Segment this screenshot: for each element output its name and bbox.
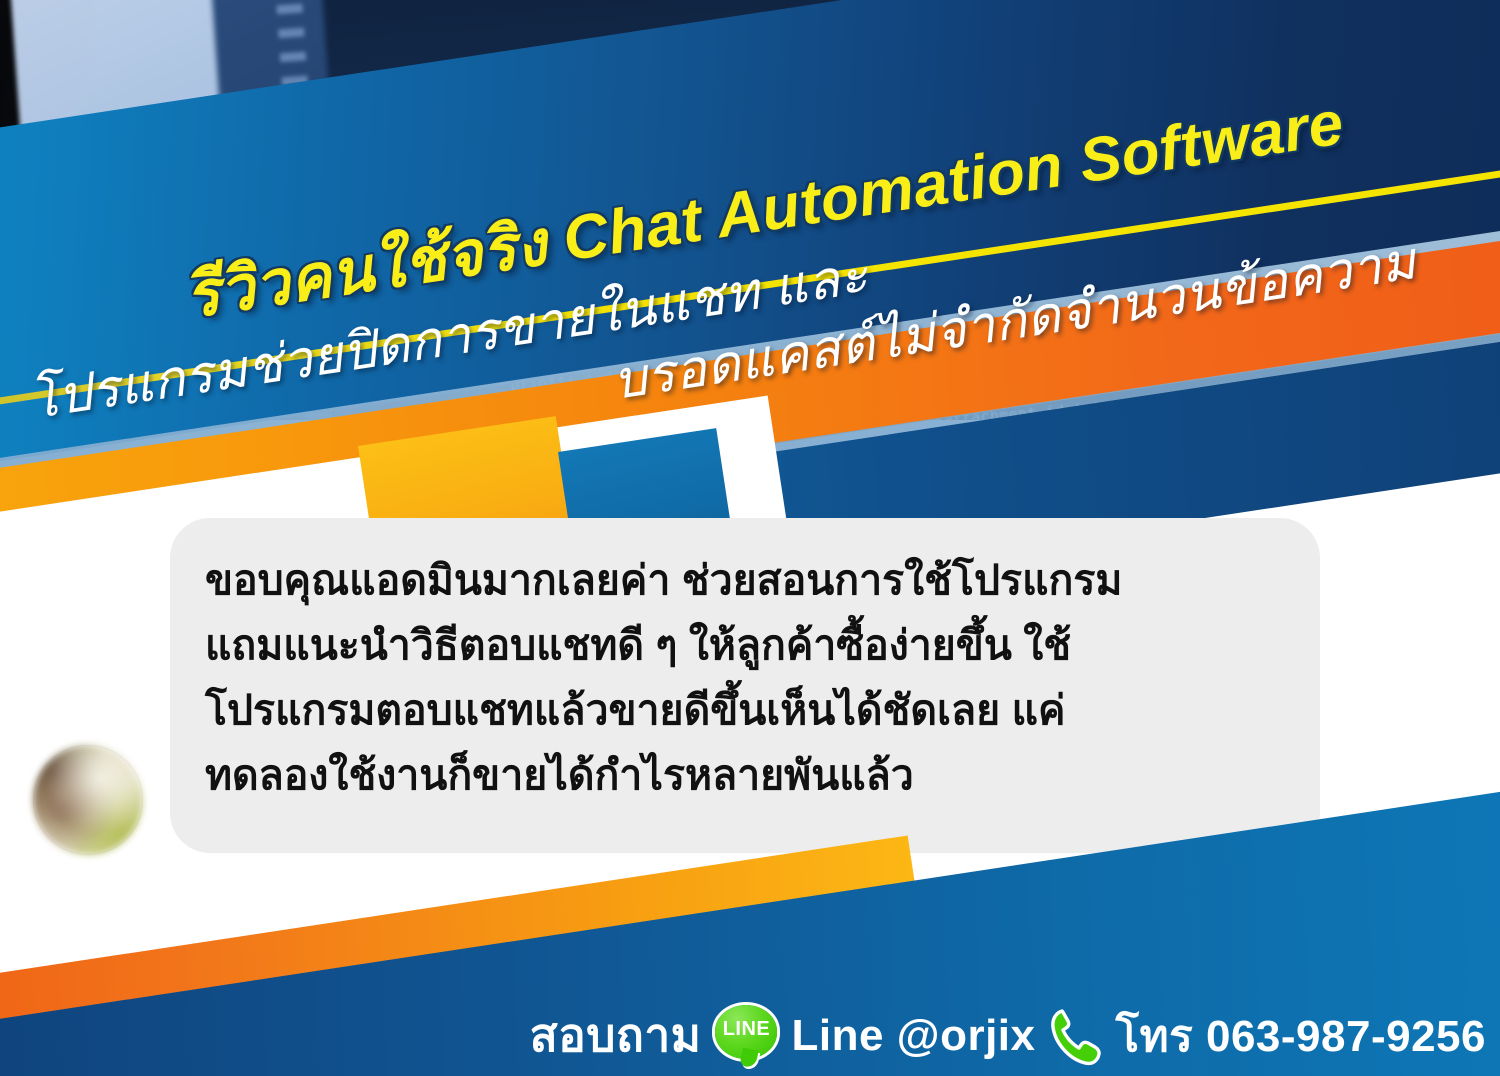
review-line: โปรแกรมตอบแชทแล้วขายดีขึ้นเห็นได้ชัดเลย … [205,678,1305,743]
review-line: แถมแนะนำวิธีตอบแชทดี ๆ ให้ลูกค้าซื้อง่าย… [205,613,1305,678]
phone-icon[interactable] [1049,1005,1101,1067]
avatar-ring [33,745,143,855]
review-line: ทดลองใช้งานก็ขายได้กำไรหลายพันแล้ว [205,743,1305,808]
poster-canvas: continue; $image = wp_get_attachment_ima… [0,0,1500,1076]
line-icon[interactable]: LINE [715,1005,777,1067]
ask-label: สอบถาม [530,999,702,1072]
phone-number-label[interactable]: โทร 063-987-9256 [1115,1001,1486,1071]
line-icon-label: LINE [715,1018,777,1041]
line-id-label[interactable]: Line @orjix [791,1011,1035,1061]
contact-bar: สอบถาม LINE Line @orjix โทร 063-987-9256 [0,995,1500,1076]
line-icon-tail [740,1047,759,1068]
review-line: ขอบคุณแอดมินมากเลยค่า ช่วยสอนการใช้โปรแก… [205,548,1305,613]
review-text: ขอบคุณแอดมินมากเลยค่า ช่วยสอนการใช้โปรแก… [205,548,1305,808]
